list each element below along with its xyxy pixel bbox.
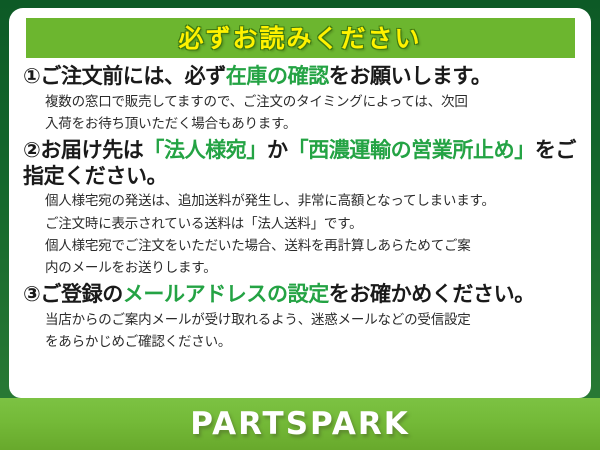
notice-heading: ①ご注文前には、必ず在庫の確認をお願いします。 bbox=[23, 64, 577, 90]
notice-body-line: 当店からのご案内メールが受け取れるよう、迷惑メールなどの受信設定 bbox=[45, 310, 577, 330]
notice-body-line: ご注文時に表示されている送料は「法人送料」です。 bbox=[45, 214, 577, 234]
notice-body-line: 内のメールをお送りします。 bbox=[45, 258, 577, 278]
notice-heading: ②お届け先は「法人様宛」か「西濃運輸の営業所止め」をご指定ください。 bbox=[23, 138, 577, 189]
notice-body-line: 複数の窓口で販売してますので、ご注文のタイミングによっては、次回 bbox=[45, 92, 577, 112]
notice-card: 必ずお読みください ①ご注文前には、必ず在庫の確認をお願いします。複数の窓口で販… bbox=[9, 8, 591, 398]
notice-heading: ③ご登録のメールアドレスの設定をお確かめください。 bbox=[23, 282, 577, 308]
brand-footer: PARTSPARK bbox=[0, 398, 600, 450]
notice-heading-text: をお確かめください。 bbox=[329, 282, 535, 306]
notice-heading-text: ご注文前には、必ず bbox=[40, 64, 225, 88]
notice-heading-highlight: 在庫の確認 bbox=[226, 64, 329, 88]
notice-body-line: 個人様宅宛の発送は、追加送料が発生し、非常に高額となってしまいます。 bbox=[45, 191, 577, 211]
notice-item: ③ご登録のメールアドレスの設定をお確かめください。当店からのご案内メールが受け取… bbox=[23, 282, 577, 352]
notice-heading-highlight: 「法人様宛」 bbox=[143, 138, 267, 162]
notice-heading-highlight: メールアドレスの設定 bbox=[123, 282, 329, 306]
notice-heading-text: ご登録の bbox=[40, 282, 122, 306]
notice-item: ②お届け先は「法人様宛」か「西濃運輸の営業所止め」をご指定ください。個人様宅宛の… bbox=[23, 138, 577, 278]
notice-heading-text: か bbox=[267, 138, 288, 162]
title-bar: 必ずお読みください bbox=[26, 18, 575, 58]
notice-heading-highlight: 「西濃運輸の営業所止め」 bbox=[288, 138, 535, 162]
notice-heading-text: をお願いします。 bbox=[329, 64, 492, 88]
notice-body-line: 入荷をお待ち頂いただく場合もあります。 bbox=[45, 114, 577, 134]
notice-list: ①ご注文前には、必ず在庫の確認をお願いします。複数の窓口で販売してますので、ご注… bbox=[9, 58, 591, 352]
notice-marker: ① bbox=[23, 64, 40, 88]
notice-heading-text: お届け先は bbox=[40, 138, 143, 162]
notice-banner: 必ずお読みください ①ご注文前には、必ず在庫の確認をお願いします。複数の窓口で販… bbox=[0, 0, 600, 450]
notice-item: ①ご注文前には、必ず在庫の確認をお願いします。複数の窓口で販売してますので、ご注… bbox=[23, 64, 577, 134]
brand-name: PARTSPARK bbox=[190, 409, 410, 440]
banner-title: 必ずお読みください bbox=[178, 26, 421, 51]
notice-body-line: をあらかじめご確認ください。 bbox=[45, 332, 577, 352]
notice-marker: ③ bbox=[23, 282, 40, 306]
notice-marker: ② bbox=[23, 138, 40, 162]
notice-body-line: 個人様宅宛でご注文をいただいた場合、送料を再計算しあらためてご案 bbox=[45, 236, 577, 256]
